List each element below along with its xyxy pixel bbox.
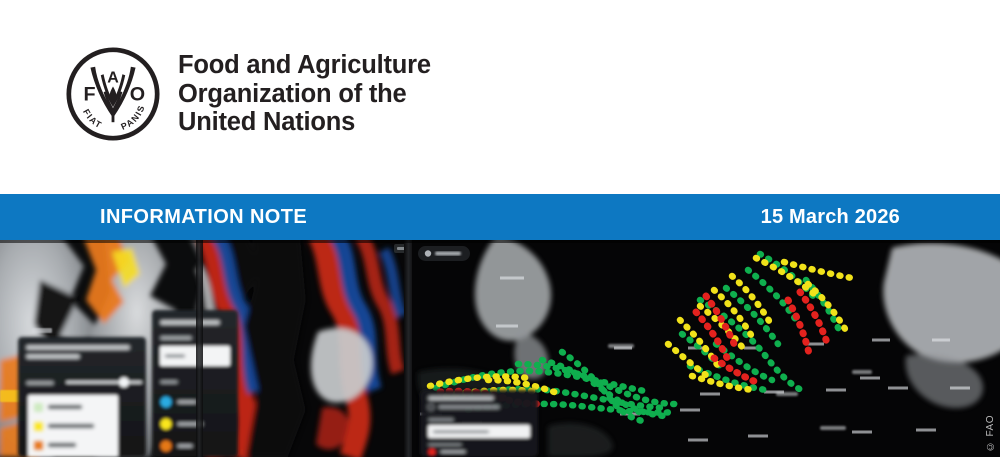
fao-letter-o: O [130,84,145,106]
organization-name: Food and Agriculture Organization of the… [178,51,431,137]
ipc-control-panel [18,337,146,457]
information-note-banner: INFORMATION NOTE 15 March 2026 [0,194,1000,240]
fao-branding: F A O FIAT PANIS Food and Agriculture Or… [66,47,431,141]
fao-letter-f: F [83,84,95,106]
banner-title: INFORMATION NOTE [100,206,307,229]
org-line-1: Food and Agriculture [178,51,431,80]
banner-date: 15 March 2026 [761,206,900,229]
map-tool-button [418,246,470,261]
fao-letter-a: A [107,70,119,87]
precipitation-control-panel [152,310,238,457]
fao-emblem-icon: F A O FIAT PANIS [66,47,160,141]
hero-photograph: © FAO [0,240,1000,457]
org-line-3: United Nations [178,108,431,137]
org-line-2: Organization of the [178,80,431,109]
hero-photo-artwork [0,240,1000,457]
cyclone-legend-panel [420,390,538,457]
page-header: F A O FIAT PANIS Food and Agriculture Or… [0,0,1000,194]
